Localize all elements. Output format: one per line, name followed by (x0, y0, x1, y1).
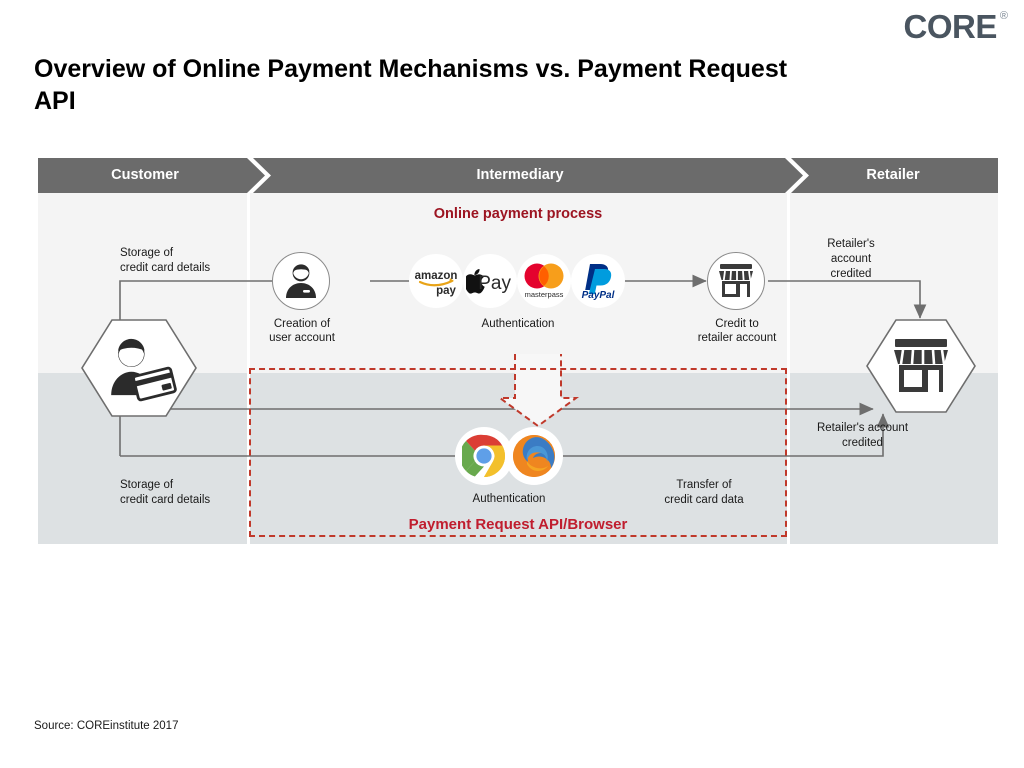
label-retailer-credited-top-line2: account (798, 252, 904, 267)
label-transfer-credit-card-data: Transfer of credit card data (644, 478, 764, 508)
section-caption-online-payment: Online payment process (368, 206, 668, 222)
label-retailer-credited-bottom-line2: credited (800, 436, 925, 451)
label-transfer-line2: credit card data (644, 493, 764, 508)
label-retailer-credited-top-line3: credited (798, 267, 904, 282)
source-note: Source: COREinstitute 2017 (34, 720, 178, 732)
payment-flow-diagram: Customer Intermediary Retailer (38, 158, 998, 544)
caption-credit-line1: Credit to (673, 317, 801, 331)
chevron-divider-icon-1 (245, 158, 271, 193)
core-logo-wordmark: CORE (904, 10, 997, 43)
section-caption-payment-request-api: Payment Request API/Browser (318, 516, 718, 533)
node-creation-of-user-account[interactable] (272, 252, 330, 310)
svg-text:pay: pay (436, 285, 456, 297)
actor-customer-hexagon (80, 318, 198, 418)
storefront-icon (894, 339, 948, 392)
label-transfer-line1: Transfer of (644, 478, 764, 493)
label-retailer-account-credited-top: Retailer's account credited (798, 237, 904, 282)
actor-retailer-hexagon (865, 318, 977, 414)
column-separator-2 (787, 193, 790, 544)
label-retailer-credited-top-line1: Retailer's (798, 237, 904, 252)
caption-authentication-bottom: Authentication (449, 492, 569, 506)
storefront-icon (718, 264, 754, 298)
caption-user-line1: Creation of (242, 317, 362, 331)
column-header-customer: Customer (38, 158, 252, 193)
caption-credit-to-retailer-account: Credit to retailer account (673, 317, 801, 346)
apple-pay-logo[interactable]: Pay (463, 254, 517, 308)
caption-authentication-top: Authentication (458, 317, 578, 331)
caption-credit-line2: retailer account (673, 331, 801, 345)
svg-text:masterpass: masterpass (525, 290, 564, 299)
label-storage-credit-card-top: Storage of credit card details (120, 246, 210, 276)
chevron-divider-icon-2 (783, 158, 809, 193)
label-storage-bottom-line1: Storage of (120, 478, 210, 493)
caption-user-line2: user account (242, 331, 362, 345)
label-storage-bottom-line2: credit card details (120, 493, 210, 508)
slide-canvas: CORE ® Overview of Online Payment Mechan… (0, 0, 1024, 768)
label-retailer-credited-bottom-line1: Retailer's account (800, 421, 925, 436)
amazon-pay-logo[interactable]: amazon pay (409, 254, 463, 308)
svg-text:Pay: Pay (478, 273, 511, 294)
paypal-logo[interactable]: PayPal (571, 254, 625, 308)
caption-creation-of-user-account: Creation of user account (242, 317, 362, 346)
core-logo: CORE ® (904, 10, 1008, 43)
masterpass-logo[interactable]: masterpass (517, 254, 571, 308)
svg-text:PayPal: PayPal (582, 290, 615, 301)
label-storage-credit-card-bottom: Storage of credit card details (120, 478, 210, 508)
user-account-icon (281, 261, 321, 301)
column-header-retailer: Retailer (788, 158, 998, 193)
column-header-intermediary: Intermediary (252, 158, 788, 193)
label-storage-line1: Storage of (120, 246, 210, 261)
node-credit-to-retailer-account[interactable] (707, 252, 765, 310)
label-storage-line2: credit card details (120, 261, 210, 276)
mozilla-firefox-logo[interactable] (508, 430, 560, 482)
registered-trademark-icon: ® (1000, 11, 1008, 22)
page-title: Overview of Online Payment Mechanisms vs… (34, 53, 814, 117)
label-retailer-account-credited-bottom: Retailer's account credited (800, 421, 925, 451)
google-chrome-logo[interactable] (458, 430, 510, 482)
